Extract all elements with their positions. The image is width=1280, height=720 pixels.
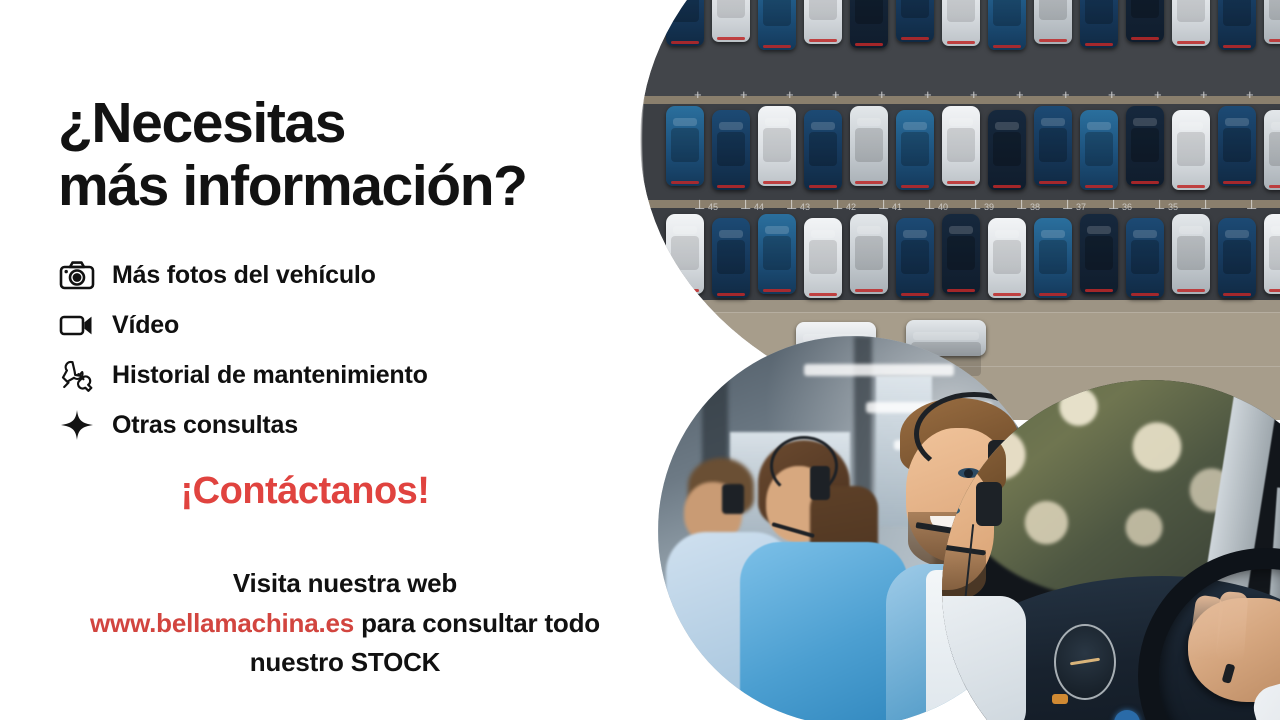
footer-line-3: nuestro STOCK [30, 643, 660, 683]
list-item-label: Vídeo [112, 311, 179, 340]
list-item-label: Historial de mantenimiento [112, 361, 428, 390]
camera-icon [56, 257, 98, 293]
video-camera-icon [56, 307, 98, 343]
list-item: Historial de mantenimiento [56, 350, 656, 400]
sparkle-star-icon [56, 407, 98, 443]
list-item: Vídeo [56, 300, 656, 350]
footer-line-1: Visita nuestra web [30, 564, 660, 604]
page-title: ¿Necesitas más información? [58, 92, 678, 217]
website-url[interactable]: www.bellamachina.es [90, 608, 354, 638]
footer-line-2-rest: para consultar todo [354, 608, 600, 638]
list-item: Otras consultas [56, 400, 656, 450]
promo-poster: + + + + + + + + + + + + + + [0, 0, 1280, 720]
list-item-label: Más fotos del vehículo [112, 261, 376, 290]
list-item: Más fotos del vehículo [56, 250, 656, 300]
footer-line-2: www.bellamachina.es para consultar todo [30, 604, 660, 644]
list-item-label: Otras consultas [112, 411, 298, 440]
driver-steering-wheel-photo [942, 380, 1280, 720]
feature-list: Más fotos del vehículo Vídeo [56, 250, 656, 450]
footer-text: Visita nuestra web www.bellamachina.es p… [0, 564, 690, 683]
contact-cta: ¡Contáctanos! [0, 470, 690, 513]
text-panel: ¿Necesitas más información? Más fotos de… [0, 0, 690, 720]
wrench-tools-icon [56, 357, 98, 393]
